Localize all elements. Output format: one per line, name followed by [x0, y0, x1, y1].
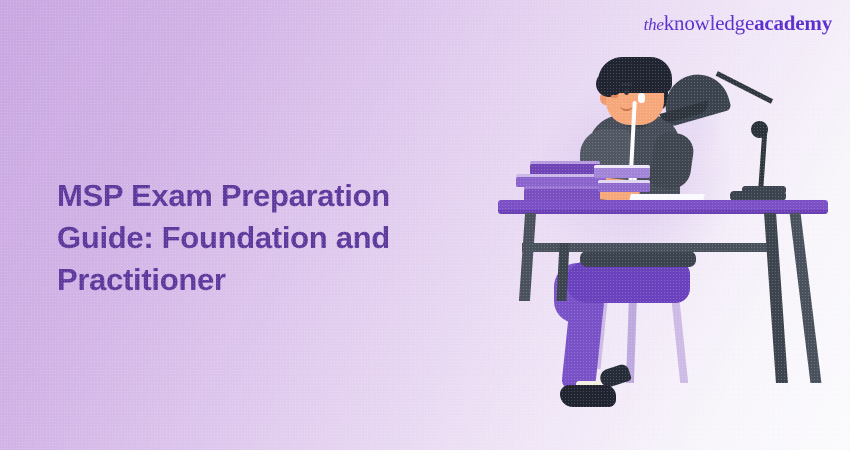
- logo-word-the: the: [644, 15, 664, 34]
- eyebrow: [621, 83, 632, 86]
- eye: [624, 89, 629, 95]
- headline-line-3: Practitioner: [57, 259, 457, 301]
- lamp-arm-lower: [758, 131, 767, 193]
- page-title: MSP Exam Preparation Guide: Foundation a…: [57, 175, 457, 301]
- earphone-bud-icon: [638, 93, 645, 103]
- lamp-joint: [751, 121, 768, 138]
- desk-top-shadow: [498, 210, 828, 214]
- desk-leg-right-outer: [790, 213, 822, 383]
- desk-leg-right: [764, 213, 788, 383]
- headline-line-1: MSP Exam Preparation: [57, 175, 457, 217]
- shoe-front: [560, 385, 616, 407]
- book-icon: [594, 168, 650, 178]
- thigh: [566, 261, 690, 303]
- nose: [611, 95, 618, 98]
- logo-word-knowledge: knowledge: [664, 11, 754, 35]
- logo-word-academy: academy: [754, 11, 832, 35]
- stool-seat: [580, 251, 696, 267]
- desk-leg-left: [519, 213, 536, 301]
- student-desk-illustration: [470, 55, 850, 450]
- promo-banner: theknowledgeacademy MSP Exam Preparation…: [0, 0, 850, 450]
- brand-logo[interactable]: theknowledgeacademy: [644, 10, 832, 38]
- book-icon: [598, 183, 650, 192]
- headline-line-2: Guide: Foundation and: [57, 217, 457, 259]
